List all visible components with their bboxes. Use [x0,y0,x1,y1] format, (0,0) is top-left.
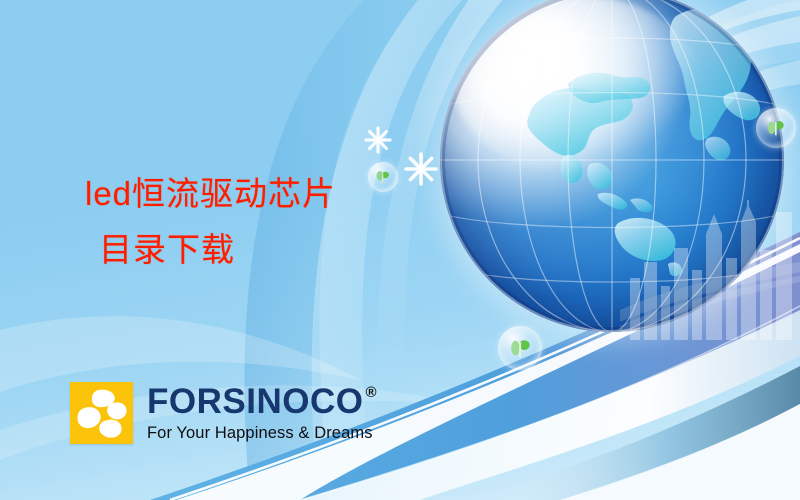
four-petal-pinwheel-icon [70,382,133,444]
headline-line-1: led恒流驱动芯片 [85,175,336,212]
headline-text: led恒流驱动芯片 目录下载 [85,166,415,278]
banner-image: led恒流驱动芯片 目录下载 FORSINOCO ® For Your Happ… [0,0,800,500]
brand-name: FORSINOCO [147,384,363,419]
headline-line-2: 目录下载 [85,222,415,278]
brand-name-row: FORSINOCO ® [147,384,377,419]
logo-text-block: FORSINOCO ® For Your Happiness & Dreams [147,384,377,442]
registered-trademark-icon: ® [365,385,377,400]
sprout-bubble [498,326,542,370]
sprout-icon [763,115,789,141]
brand-tagline: For Your Happiness & Dreams [147,425,377,442]
city-skyline-silhouette [620,200,800,340]
sprout-icon [506,334,534,362]
company-logo: FORSINOCO ® For Your Happiness & Dreams [70,382,377,444]
starburst-flower-icon [364,126,392,154]
sprout-bubble [756,108,796,148]
logo-mark [70,382,133,444]
